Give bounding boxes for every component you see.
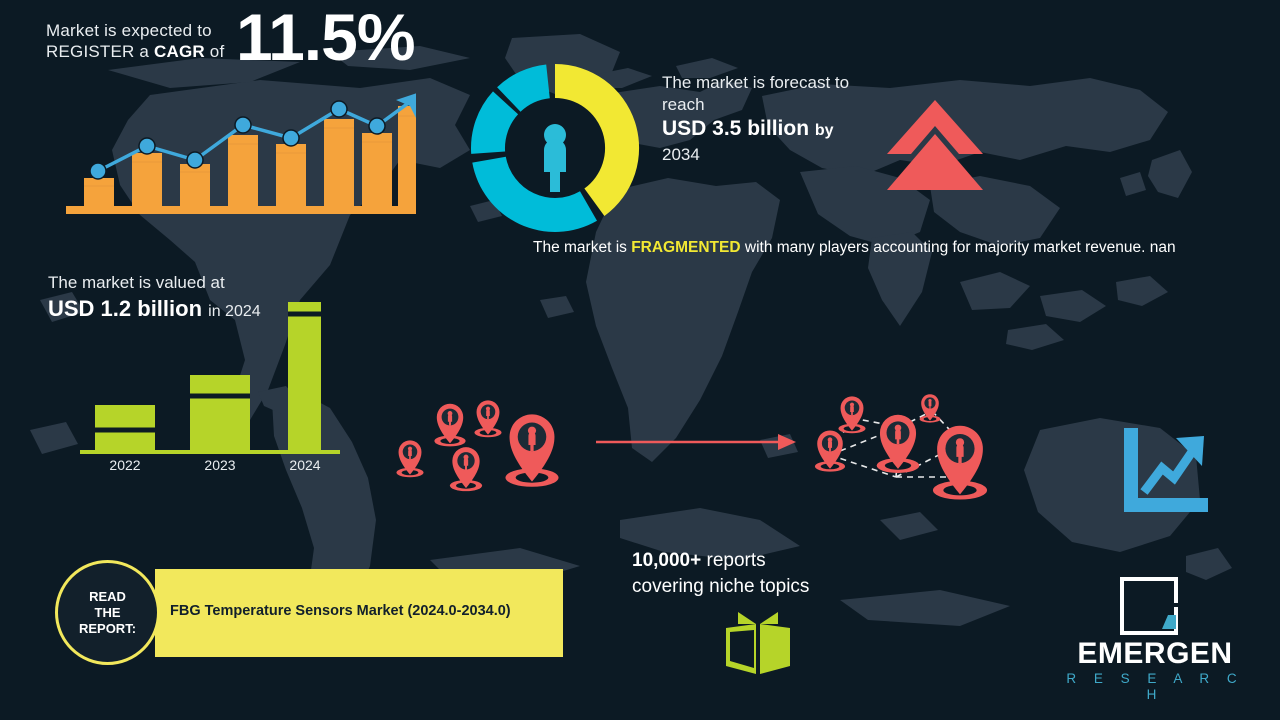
cagr-line-2-pre: REGISTER a (46, 42, 154, 61)
map-pin-5 (505, 414, 558, 486)
map-pin-cluster-right-networked (800, 385, 1015, 500)
forecast-line-2: reach (662, 94, 892, 116)
chart-baseline (66, 206, 416, 214)
orange-growth-bar-chart (66, 80, 416, 225)
right-arrow-icon (596, 428, 796, 456)
map-pin-r5 (933, 426, 987, 500)
fragmented-pre: The market is (533, 239, 631, 256)
read-the-report-button[interactable]: READ THE REPORT: (55, 560, 160, 665)
fragmented-highlight: FRAGMENTED (631, 239, 740, 256)
cagr-block: Market is expected to REGISTER a CAGR of (46, 20, 224, 62)
reports-line-1-rest: reports (701, 550, 765, 571)
cagr-value: 11.5% (236, 4, 415, 70)
square-frame-logo-icon (1118, 575, 1180, 637)
infographic-canvas: Market is expected to REGISTER a CAGR of… (0, 0, 1280, 720)
map-pin-2 (434, 404, 465, 447)
market-value-block: The market is valued at USD 1.2 billion … (48, 272, 261, 327)
read-the-report-label: READ THE REPORT: (79, 589, 136, 637)
read-label-line-1: READ (89, 589, 126, 604)
green-chart-baseline (80, 450, 340, 454)
reports-line-1: 10,000+ reports (632, 548, 902, 574)
forecast-value: USD 3.5 billion by (662, 116, 892, 144)
cagr-line-2: REGISTER a CAGR of (46, 41, 224, 62)
logo-subtitle: R E S E A R C H (1060, 671, 1250, 703)
map-pin-3 (474, 400, 501, 437)
map-pin-r4 (877, 415, 920, 473)
cagr-line-2-post: of (205, 42, 225, 61)
map-pin-cluster-left (380, 385, 595, 495)
reports-line-2: covering niche topics (632, 574, 902, 600)
reports-count-block: 10,000+ reports covering niche topics (632, 548, 902, 600)
donut-slice-cyan-1 (472, 157, 597, 232)
reports-count: 10,000+ (632, 550, 701, 571)
fragmented-post: with many players accounting for majorit… (741, 239, 1176, 256)
market-value-label: The market is valued at (48, 272, 261, 294)
read-label-line-2: THE (95, 605, 121, 620)
fragmented-text: The market is FRAGMENTED with many playe… (533, 236, 1213, 259)
double-chevron-up-icon (885, 98, 985, 190)
fragmented-statement: The market is FRAGMENTED with many playe… (533, 236, 1213, 259)
forecast-line-1: The market is forecast to (662, 72, 892, 94)
map-pin-r2 (920, 394, 941, 422)
logo-wordmark: EMERGEN (1060, 637, 1250, 671)
market-value-year: in 2024 (208, 303, 261, 320)
green-chart-x-labels: 2022 2023 2024 (109, 457, 320, 473)
forecast-block: The market is forecast to reach USD 3.5 … (662, 72, 892, 166)
map-pin-r3 (815, 430, 845, 471)
forecast-year: 2034 (662, 144, 892, 166)
open-book-icon (722, 610, 794, 676)
read-label-line-3: REPORT: (79, 621, 136, 636)
cagr-line-1: Market is expected to (46, 20, 224, 41)
x-label-2023: 2023 (204, 457, 235, 473)
map-pin-r1 (838, 396, 865, 433)
market-value-amount: USD 1.2 billion in 2024 (48, 294, 261, 327)
cagr-keyword: CAGR (154, 42, 205, 61)
report-title: FBG Temperature Sensors Market (2024.0-2… (170, 602, 550, 621)
forecast-value-text: USD 3.5 billion (662, 117, 809, 140)
donut-center-person-icon (544, 124, 566, 192)
map-pin-4 (450, 447, 482, 491)
emergen-research-logo: EMERGEN R E S E A R C H (1060, 575, 1250, 695)
market-value-number: USD 1.2 billion (48, 296, 202, 321)
market-share-donut-chart (455, 48, 655, 248)
read-report-banner[interactable]: FBG Temperature Sensors Market (2024.0-2… (55, 560, 563, 665)
map-pin-1 (396, 440, 423, 477)
x-label-2024: 2024 (289, 457, 320, 473)
forecast-by: by (815, 122, 834, 139)
x-label-2022: 2022 (109, 457, 140, 473)
donut-slice-yellow (555, 64, 639, 216)
growth-chart-arrow-icon (1118, 424, 1210, 516)
